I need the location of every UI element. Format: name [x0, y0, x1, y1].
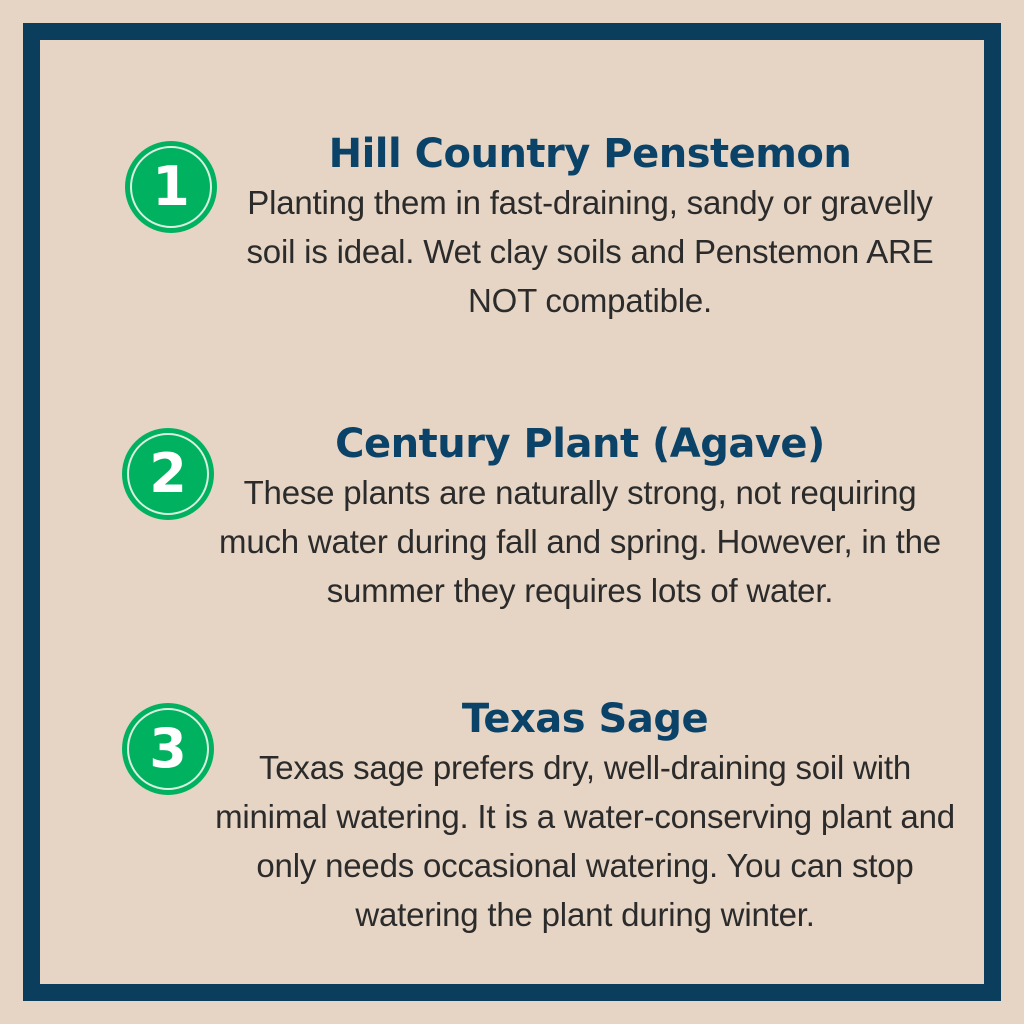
- section-body: Texas sage prefers dry, well-draining so…: [210, 743, 960, 939]
- poster-content: 1 Hill Country Penstemon Planting them i…: [80, 80, 1024, 1024]
- infographic-poster: 1 Hill Country Penstemon Planting them i…: [0, 0, 1024, 1024]
- badge-number-label: 3: [122, 703, 214, 795]
- poster-frame-border: 1 Hill Country Penstemon Planting them i…: [23, 23, 1001, 1001]
- number-badge-3: 3: [122, 703, 214, 795]
- section-title: Hill Country Penstemon: [230, 130, 950, 178]
- number-badge-1: 1: [125, 141, 217, 233]
- section-text-3: Texas Sage Texas sage prefers dry, well-…: [210, 695, 960, 939]
- badge-number-label: 1: [125, 141, 217, 233]
- section-title: Century Plant (Agave): [200, 420, 960, 468]
- section-text-1: Hill Country Penstemon Planting them in …: [230, 130, 950, 325]
- section-title: Texas Sage: [210, 695, 960, 743]
- section-body: Planting them in fast-draining, sandy or…: [230, 178, 950, 325]
- section-text-2: Century Plant (Agave) These plants are n…: [200, 420, 960, 615]
- section-body: These plants are naturally strong, not r…: [200, 468, 960, 615]
